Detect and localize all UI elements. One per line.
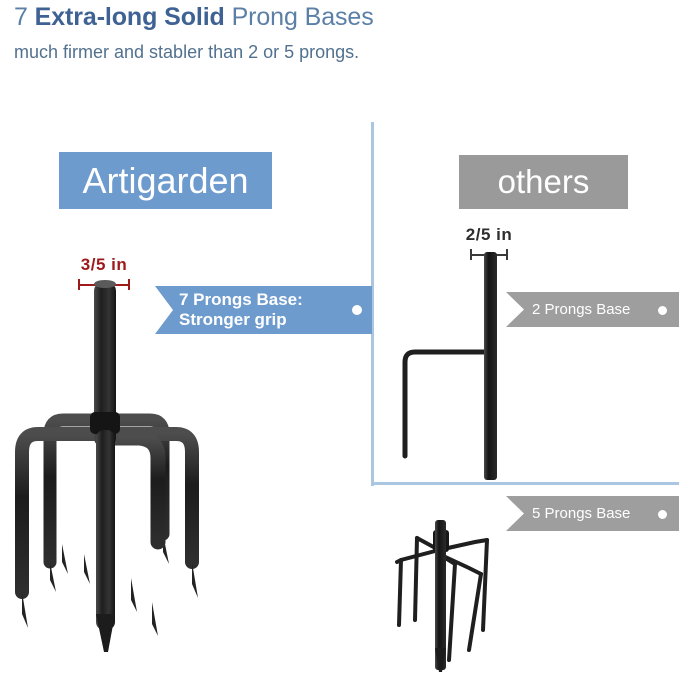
brand-badge-artigarden: Artigarden	[59, 152, 272, 209]
page-subtitle: much firmer and stabler than 2 or 5 pron…	[14, 40, 359, 64]
arrow-notch-icon-gray-bottom	[506, 496, 524, 531]
infographic-canvas: 7 Extra-long Solid Prong Bases much firm…	[0, 0, 679, 678]
callout-two-prongs: 2 Prongs Base	[506, 292, 679, 327]
callout-two-prongs-label: 2 Prongs Base	[532, 301, 630, 318]
callout-five-prongs-label: 5 Prongs Base	[532, 505, 630, 522]
page-title-lead: 7	[14, 3, 35, 31]
brand-badge-others: others	[459, 155, 628, 209]
dot-icon-gray-top	[658, 306, 667, 315]
callout-seven-prongs: 7 Prongs Base: Stronger grip	[155, 286, 372, 334]
dot-icon-blue	[352, 305, 362, 315]
page-title-tail: Prong Bases	[225, 3, 374, 31]
five-prong-garden-stake-illustration	[395, 520, 575, 678]
arrow-notch-icon-blue	[155, 286, 173, 334]
page-title-emphasis: Extra-long Solid	[35, 3, 225, 31]
two-prong-garden-stake-illustration	[385, 248, 525, 488]
page-title: 7 Extra-long Solid Prong Bases	[14, 2, 374, 32]
callout-seven-prongs-line1: 7 Prongs Base:	[179, 290, 303, 309]
callout-seven-prongs-text: 7 Prongs Base: Stronger grip	[179, 290, 303, 330]
callout-five-prongs: 5 Prongs Base	[506, 496, 679, 531]
dot-icon-gray-bottom	[658, 510, 667, 519]
arrow-notch-icon-gray-top	[506, 292, 524, 327]
callout-seven-prongs-line2: Stronger grip	[179, 310, 303, 330]
dimension-label-right: 2/5 in	[444, 225, 534, 245]
